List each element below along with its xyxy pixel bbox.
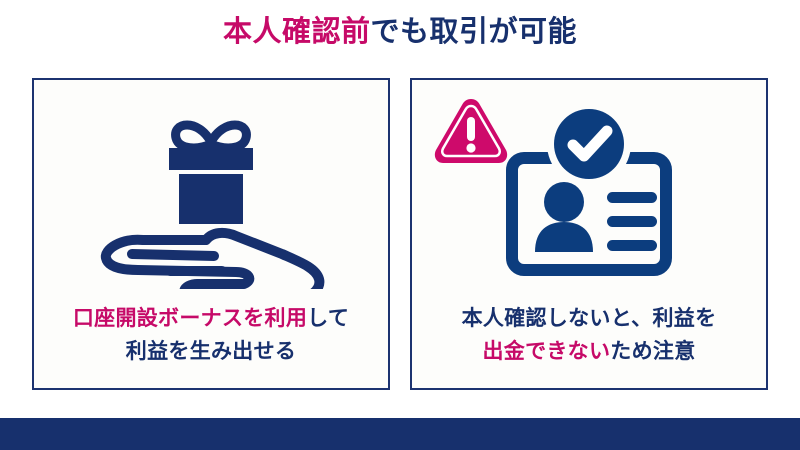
gift-on-hand-icon	[86, 104, 336, 289]
card-caption-line2: 出金できないため注意	[412, 335, 766, 368]
footer-bar	[0, 418, 800, 450]
card-caption-line1: 口座開設ボーナスを利用して	[34, 302, 388, 335]
page-title-highlight: 本人確認前	[223, 16, 371, 48]
card-kyc-warning: 本人確認しないと、利益を 出金できないため注意	[410, 78, 768, 390]
card-caption: 口座開設ボーナスを利用して 利益を生み出せる	[34, 302, 388, 368]
page-title-rest: でも取引が可能	[371, 16, 578, 48]
card-account-bonus: 口座開設ボーナスを利用して 利益を生み出せる	[32, 78, 390, 390]
card-caption-line1-rest: して	[307, 307, 349, 330]
card-caption: 本人確認しないと、利益を 出金できないため注意	[412, 302, 766, 368]
card-caption-line2-highlight: 出金できない	[482, 340, 610, 363]
card-caption-line2-rest: ため注意	[610, 340, 695, 363]
id-card-verified-icon	[504, 106, 674, 286]
card-caption-line2: 利益を生み出せる	[34, 335, 388, 368]
page-title: 本人確認前でも取引が可能	[0, 14, 800, 50]
card-caption-line1: 本人確認しないと、利益を	[412, 302, 766, 335]
warning-triangle-icon	[430, 94, 512, 168]
card-row: 口座開設ボーナスを利用して 利益を生み出せる	[32, 78, 768, 390]
card-icon-area	[34, 80, 388, 298]
card-caption-line1-highlight: 口座開設ボーナスを利用	[73, 307, 307, 330]
card-icon-area	[412, 80, 766, 298]
